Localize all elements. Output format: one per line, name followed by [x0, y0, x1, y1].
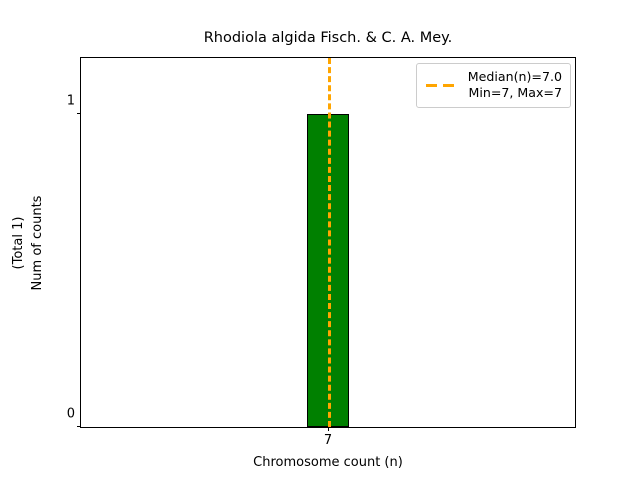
legend-row: Median(n)=7.0 Min=7, Max=7: [425, 69, 562, 101]
legend-label-median: Median(n)=7.0: [468, 69, 562, 85]
legend: Median(n)=7.0 Min=7, Max=7: [416, 63, 571, 108]
chart-title: Rhodiola algida Fisch. & C. A. Mey.: [80, 30, 576, 47]
y-axis-label-wrapper: (Total 1) Num of counts: [0, 57, 56, 428]
xtick-label-7: 7: [324, 434, 332, 448]
ytick-label-0: 0: [67, 408, 75, 421]
y-axis-label: (Total 1) Num of counts: [9, 195, 47, 290]
y-axis-label-line2: (Total 1): [9, 195, 28, 290]
plot-area: 0 1 7 Median(n)=7.0 Min=7, Max=7: [80, 57, 576, 428]
ytick-label-1: 1: [67, 95, 75, 108]
legend-text-group: Median(n)=7.0 Min=7, Max=7: [468, 69, 562, 101]
legend-label-minmax: Min=7, Max=7: [468, 85, 562, 101]
dashed-line-swatch-icon: [425, 78, 459, 92]
y-axis-label-line1: Num of counts: [30, 195, 45, 290]
chart-figure: Rhodiola algida Fisch. & C. A. Mey. 0 1 …: [0, 0, 640, 480]
x-axis-label: Chromosome count (n): [80, 455, 576, 470]
median-line: [328, 58, 331, 427]
